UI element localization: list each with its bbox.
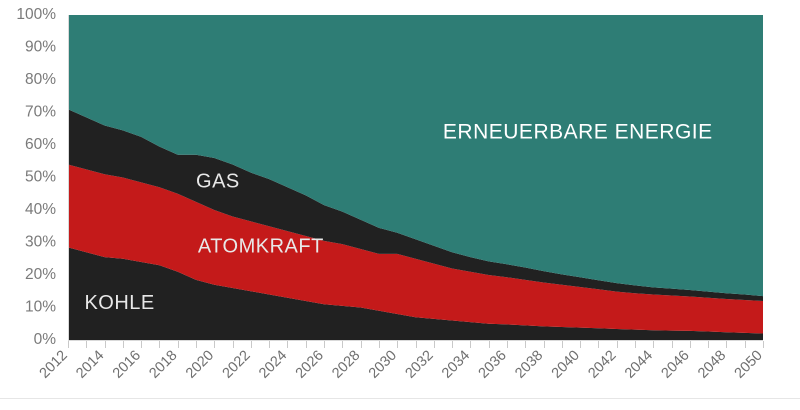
x-tick-label: 2022 xyxy=(220,348,254,382)
x-tick-label: 2034 xyxy=(439,348,473,382)
x-tick-marks xyxy=(69,341,764,348)
y-tick-label: 10% xyxy=(25,299,56,316)
x-tick-label: 2030 xyxy=(366,348,400,382)
y-tick-label: 70% xyxy=(25,104,56,121)
x-tick-label: 2024 xyxy=(256,348,290,382)
y-tick-label: 50% xyxy=(25,169,56,186)
y-tick-label: 30% xyxy=(25,234,56,251)
y-tick-label: 40% xyxy=(25,201,56,218)
x-tick-label: 2020 xyxy=(183,348,217,382)
y-tick-label: 100% xyxy=(16,6,56,23)
x-tick-label: 2042 xyxy=(585,348,619,382)
y-tick-label: 0% xyxy=(34,331,57,348)
y-tick-label: 90% xyxy=(25,39,56,56)
x-tick-label: 2050 xyxy=(732,348,766,382)
plot-areas xyxy=(68,15,763,340)
x-tick-label: 2026 xyxy=(293,348,327,382)
x-tick-label: 2036 xyxy=(476,348,510,382)
x-tick-label: 2016 xyxy=(110,348,144,382)
x-tick-label: 2040 xyxy=(549,348,583,382)
x-tick-label: 2012 xyxy=(37,348,71,382)
x-tick-label: 2038 xyxy=(512,348,546,382)
series-label-kohle: KOHLE xyxy=(84,292,154,314)
x-tick-label: 2028 xyxy=(329,348,363,382)
y-tick-label: 80% xyxy=(25,71,56,88)
y-tick-labels: 100%90%80%70%60%50%40%30%20%10%0% xyxy=(16,6,56,348)
series-label-gas: GAS xyxy=(196,170,240,192)
x-tick-label: 2044 xyxy=(622,348,656,382)
x-tick-label: 2046 xyxy=(659,348,693,382)
y-tick-label: 20% xyxy=(25,266,56,283)
series-label-atomkraft: ATOMKRAFT xyxy=(198,235,324,257)
x-tick-label: 2048 xyxy=(695,348,729,382)
x-tick-label: 2018 xyxy=(146,348,180,382)
x-tick-label: 2014 xyxy=(73,348,107,382)
x-tick-labels: 2012201420162018202020222024202620282030… xyxy=(37,348,766,382)
chart-canvas: 100%90%80%70%60%50%40%30%20%10%0% 201220… xyxy=(0,0,800,410)
y-tick-label: 60% xyxy=(25,136,56,153)
stacked-area-chart: 100%90%80%70%60%50%40%30%20%10%0% 201220… xyxy=(0,0,800,410)
x-tick-label: 2032 xyxy=(402,348,436,382)
series-label-erneuerbare-energie: ERNEUERBARE ENERGIE xyxy=(443,121,713,144)
